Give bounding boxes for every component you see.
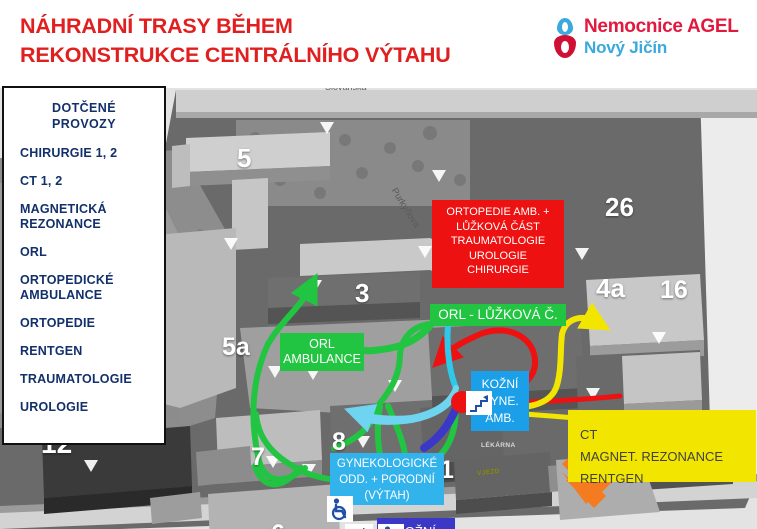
callout-yellow-ct: CT MAGNET. REZONANCE RENTGEN [568, 410, 756, 482]
callout-ct-line1: CT [580, 424, 756, 446]
callout-orl-amb-line2: AMBULANCE [280, 352, 364, 367]
wheelchair-access-icon [378, 524, 404, 529]
building-label-4a: 4a [596, 273, 625, 304]
legend-item-orl: ORL [20, 245, 166, 260]
page-title-line2: REKONSTRUKCE CENTRÁLNÍHO VÝTAHU [20, 41, 550, 70]
legend-item-traumatologie: TRAUMATOLOGIE [20, 372, 166, 387]
building-label-5a: 5a [222, 333, 250, 362]
callout-red-line3: TRAUMATOLOGIE [432, 234, 564, 249]
callout-red-ortopedie: ORTOPEDIE AMB. + LŮŽKOVÁ ČÁST TRAUMATOLO… [432, 200, 564, 288]
logo-line2: Nový Jičín [584, 38, 667, 58]
building-label-16: 16 [660, 276, 688, 305]
page-header: NÁHRADNÍ TRASY BĚHEM REKONSTRUKCE CENTRÁ… [0, 0, 757, 88]
building-label-5: 5 [237, 143, 251, 174]
legend-item-rentgen: RENTGEN [20, 344, 166, 359]
callout-red-line2: LŮŽKOVÁ ČÁST [432, 220, 564, 235]
legend-item-ct: CT 1, 2 [20, 174, 166, 189]
logo-line1: Nemocnice AGEL [584, 16, 739, 38]
legend-title: DOTČENÉ PROVOZY [4, 100, 164, 132]
legend-title-line1: DOTČENÉ [4, 100, 164, 116]
wheelchair-access-icon [327, 496, 353, 522]
poster-root: NÁHRADNÍ TRASY BĚHEM REKONSTRUKCE CENTRÁ… [0, 0, 757, 529]
building-label-7: 7 [251, 443, 265, 472]
callout-red-line4: UROLOGIE [432, 249, 564, 264]
legend-item-mr: MAGNETICKÁ REZONANCE [20, 202, 166, 232]
legend-list: CHIRURGIE 1, 2 CT 1, 2 MAGNETICKÁ REZONA… [20, 146, 166, 428]
legend-title-line2: PROVOZY [4, 116, 164, 132]
building-label-26: 26 [605, 192, 634, 223]
legend-item-ortopedie: ORTOPEDIE [20, 316, 166, 331]
street-label-slovanska: Slovanská [325, 88, 367, 92]
callout-green-orl-ambulance: ORL AMBULANCE [280, 333, 364, 371]
stairs-arrow-icon [466, 391, 492, 415]
map-label-lekarna: LÉKÁRNA [481, 442, 516, 449]
page-title: NÁHRADNÍ TRASY BĚHEM REKONSTRUKCE CENTRÁ… [20, 12, 550, 70]
building-label-3: 3 [355, 278, 369, 309]
callout-orl-amb-line1: ORL [280, 337, 364, 352]
legend-item-ortopedicke: ORTOPEDICKÉ AMBULANCE [20, 273, 166, 303]
callout-ct-line2: MAGNET. REZONANCE [580, 446, 756, 468]
legend-box: DOTČENÉ PROVOZY CHIRURGIE 1, 2 CT 1, 2 M… [2, 86, 166, 445]
building-label-6: 6 [271, 520, 285, 529]
page-title-line1: NÁHRADNÍ TRASY BĚHEM [20, 14, 293, 38]
legend-item-urologie: UROLOGIE [20, 400, 166, 415]
callout-gyn-line1: GYNEKOLOGICKÉ [330, 456, 444, 472]
callout-red-line5: CHIRURGIE [432, 263, 564, 278]
phone-icon [345, 524, 373, 529]
callout-gyn-line2: ODD. + PORODNÍ [330, 472, 444, 488]
agel-droplet-logo-icon [552, 18, 578, 58]
callout-ct-line3: RENTGEN [580, 468, 756, 490]
hospital-logo: Nemocnice AGEL Nový Jičín [552, 16, 752, 62]
callout-red-line1: ORTOPEDIE AMB. + [432, 205, 564, 220]
legend-item-chirurgie: CHIRURGIE 1, 2 [20, 146, 166, 161]
callout-green-orl-luzkova: ORL - LŮŽKOVÁ Č. [430, 304, 566, 326]
